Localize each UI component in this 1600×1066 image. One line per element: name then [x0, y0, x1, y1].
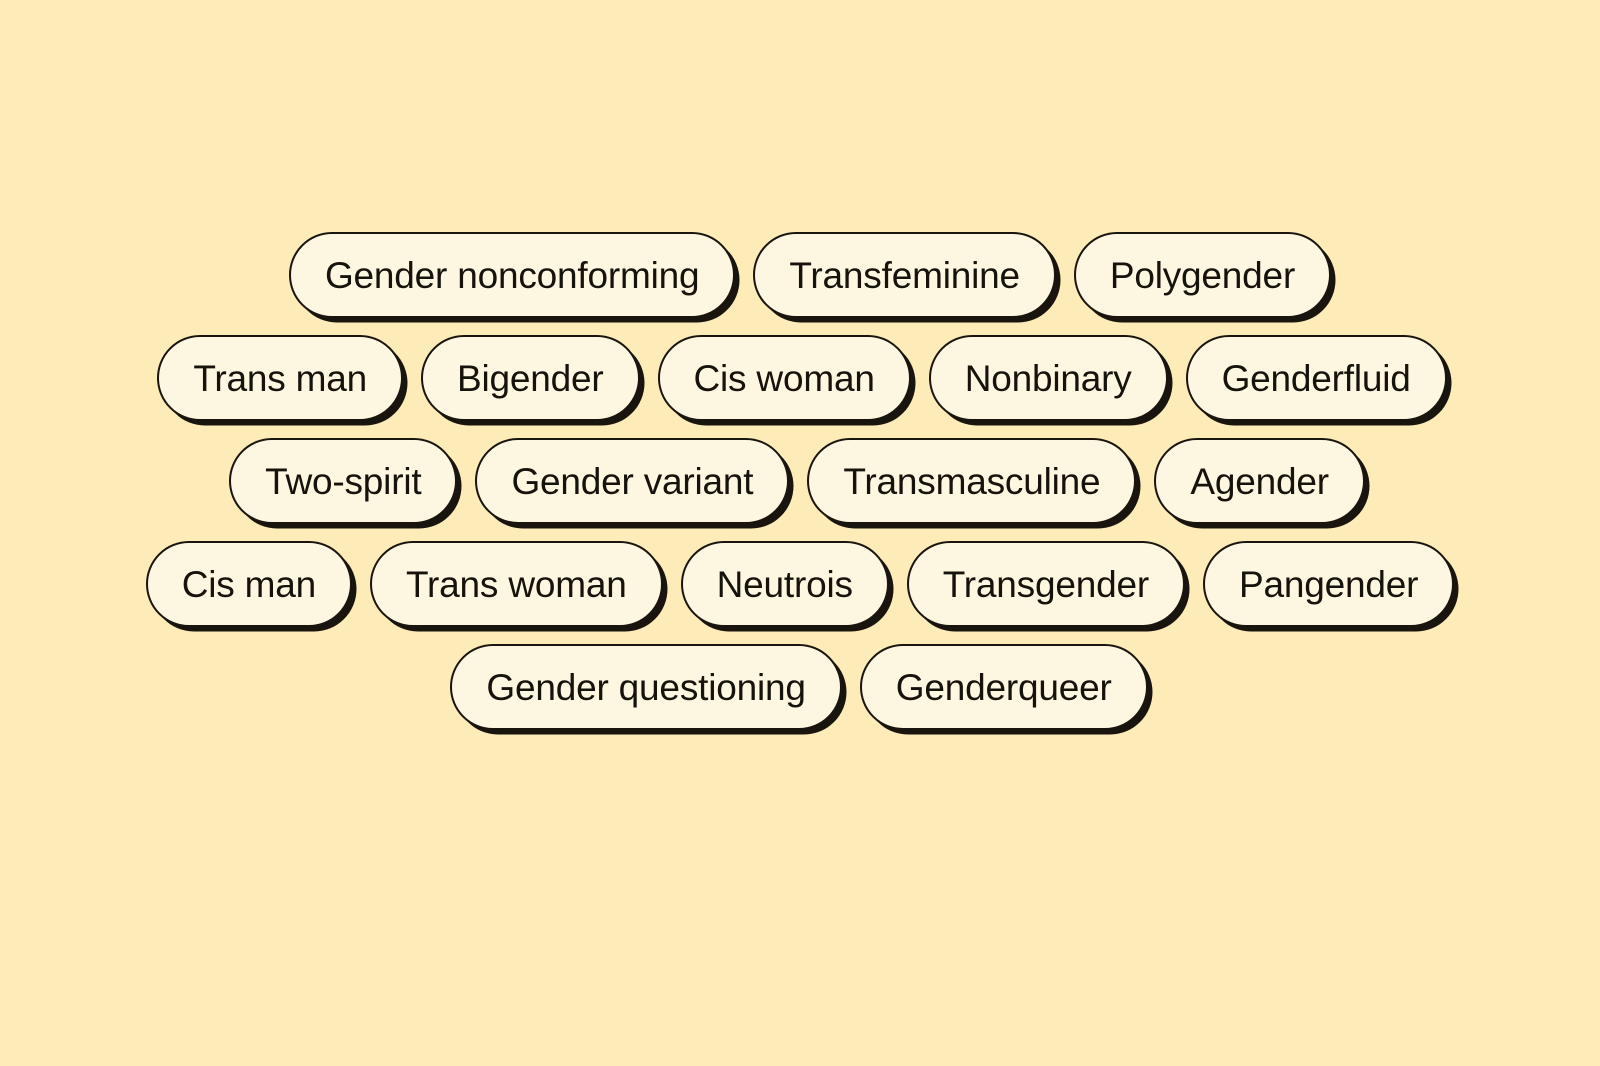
tag-pill-nonbinary[interactable]: Nonbinary [929, 335, 1168, 421]
tag-label: Neutrois [717, 566, 853, 603]
tag-row-3: Two-spirit Gender variant Transmasculine… [0, 438, 1600, 524]
tag-pill-two-spirit[interactable]: Two-spirit [229, 438, 457, 524]
tag-label: Gender nonconforming [325, 257, 699, 294]
tag-label: Transmasculine [843, 463, 1100, 500]
tag-pill-trans-man[interactable]: Trans man [157, 335, 403, 421]
tag-label: Nonbinary [965, 360, 1132, 397]
tag-pill-cis-woman[interactable]: Cis woman [658, 335, 911, 421]
tag-pill-cis-man[interactable]: Cis man [146, 541, 352, 627]
tag-pill-gender-questioning[interactable]: Gender questioning [450, 644, 841, 730]
tag-label: Polygender [1110, 257, 1295, 294]
tag-label: Gender variant [511, 463, 753, 500]
tag-label: Pangender [1239, 566, 1418, 603]
tag-row-5: Gender questioning Genderqueer [0, 644, 1600, 730]
tag-pill-bigender[interactable]: Bigender [421, 335, 640, 421]
page-canvas: Gender nonconforming Transfeminine Polyg… [0, 0, 1600, 1066]
tag-pill-transmasculine[interactable]: Transmasculine [807, 438, 1136, 524]
tag-label: Genderfluid [1222, 360, 1411, 397]
tag-pill-agender[interactable]: Agender [1154, 438, 1365, 524]
tag-label: Two-spirit [265, 463, 421, 500]
tag-pill-gender-variant[interactable]: Gender variant [475, 438, 789, 524]
tag-label: Trans man [193, 360, 367, 397]
tag-label: Transfeminine [789, 257, 1019, 294]
tag-label: Trans woman [406, 566, 627, 603]
tag-label: Transgender [943, 566, 1149, 603]
tag-label: Cis man [182, 566, 316, 603]
tag-pill-genderqueer[interactable]: Genderqueer [860, 644, 1148, 730]
tag-label: Genderqueer [896, 669, 1112, 706]
tag-label: Cis woman [694, 360, 875, 397]
tag-pill-polygender[interactable]: Polygender [1074, 232, 1331, 318]
tag-row-4: Cis man Trans woman Neutrois Transgender… [0, 541, 1600, 627]
tag-cloud: Gender nonconforming Transfeminine Polyg… [0, 232, 1600, 730]
tag-pill-genderfluid[interactable]: Genderfluid [1186, 335, 1447, 421]
tag-pill-neutrois[interactable]: Neutrois [681, 541, 889, 627]
tag-label: Gender questioning [486, 669, 805, 706]
tag-pill-gender-nonconforming[interactable]: Gender nonconforming [289, 232, 735, 318]
tag-pill-pangender[interactable]: Pangender [1203, 541, 1454, 627]
tag-row-1: Gender nonconforming Transfeminine Polyg… [0, 232, 1600, 318]
tag-label: Bigender [457, 360, 604, 397]
tag-pill-transgender[interactable]: Transgender [907, 541, 1185, 627]
tag-row-2: Trans man Bigender Cis woman Nonbinary G… [0, 335, 1600, 421]
tag-pill-transfeminine[interactable]: Transfeminine [753, 232, 1055, 318]
tag-label: Agender [1190, 463, 1329, 500]
tag-pill-trans-woman[interactable]: Trans woman [370, 541, 663, 627]
